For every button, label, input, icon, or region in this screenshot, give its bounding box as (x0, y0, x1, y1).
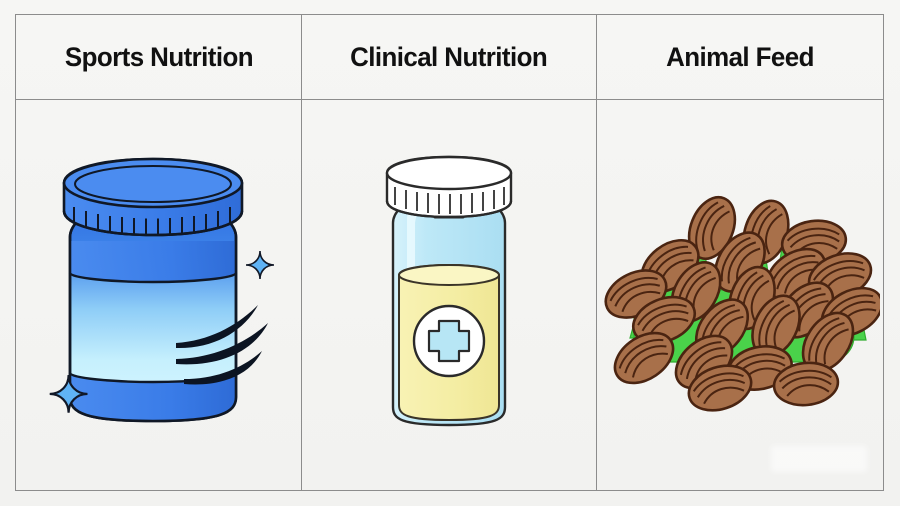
column-title-animal-feed: Animal Feed (666, 42, 814, 73)
table-header-row: Sports Nutrition Clinical Nutrition Anim… (16, 15, 883, 100)
medicine-bottle-illustration (302, 100, 596, 490)
protein-jar-svg (24, 145, 294, 445)
illustration-cell-clinical-nutrition (301, 100, 596, 490)
header-cell-sports-nutrition: Sports Nutrition (16, 15, 301, 99)
table-illustration-row (16, 100, 883, 490)
sparkle-icon-small (246, 251, 274, 279)
medical-cross-badge (414, 306, 484, 376)
jar-body (70, 205, 236, 421)
comparison-table: Sports Nutrition Clinical Nutrition Anim… (15, 14, 884, 491)
illustration-cell-animal-feed (596, 100, 883, 490)
figure-canvas: Sports Nutrition Clinical Nutrition Anim… (0, 0, 900, 506)
protein-powder-jar-illustration (16, 100, 301, 490)
header-cell-animal-feed: Animal Feed (596, 15, 883, 99)
header-cell-clinical-nutrition: Clinical Nutrition (301, 15, 596, 99)
bottle-cap (387, 157, 511, 217)
jar-lid (64, 159, 242, 236)
illustration-cell-sports-nutrition (16, 100, 301, 490)
medicine-bottle-svg (349, 145, 549, 445)
grain-pile-svg (600, 170, 880, 420)
grain-kernels (600, 190, 880, 417)
column-title-clinical-nutrition: Clinical Nutrition (350, 42, 547, 73)
column-title-sports-nutrition: Sports Nutrition (64, 42, 252, 73)
feed-grain-pile-illustration (597, 100, 883, 490)
